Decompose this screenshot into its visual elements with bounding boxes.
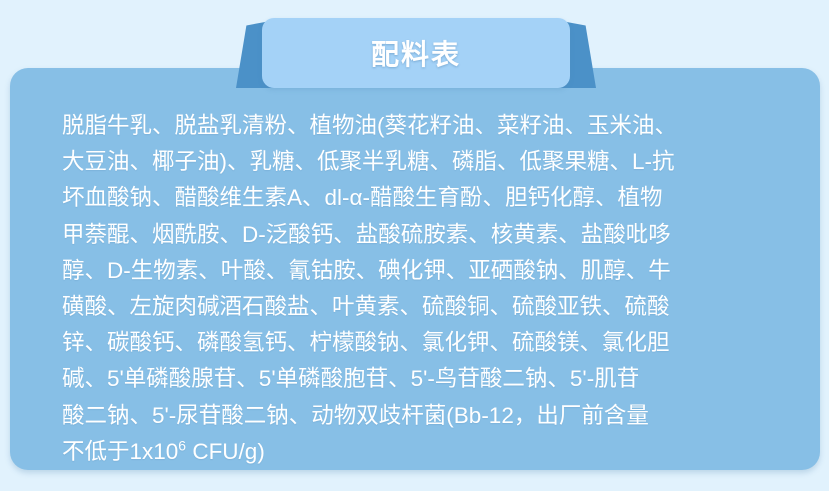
page-root: 配料表 脱脂牛乳、脱盐乳清粉、植物油(葵花籽油、菜籽油、玉米油、大豆油、椰子油)…: [0, 0, 829, 491]
ingredients-line: 碱、5'单磷酸腺苷、5'单磷酸胞苷、5'-鸟苷酸二钠、5'-肌苷: [62, 361, 770, 397]
ingredients-line: 坏血酸钠、醋酸维生素A、dl-α-醋酸生育酚、胆钙化醇、植物: [62, 180, 770, 216]
ingredients-line: 甲萘醌、烟酰胺、D-泛酸钙、盐酸硫胺素、核黄素、盐酸吡哆: [62, 217, 770, 253]
ingredients-text: 脱脂牛乳、脱盐乳清粉、植物油(葵花籽油、菜籽油、玉米油、大豆油、椰子油)、乳糖、…: [62, 108, 770, 470]
ingredients-line: 磺酸、左旋肉碱酒石酸盐、叶黄素、硫酸铜、硫酸亚铁、硫酸: [62, 289, 770, 325]
ingredients-line: 大豆油、椰子油)、乳糖、低聚半乳糖、磷脂、低聚果糖、L-抗: [62, 144, 770, 180]
ingredients-line: 不低于1x106 CFU/g): [62, 434, 770, 470]
ingredients-line: 锌、碳酸钙、磷酸氢钙、柠檬酸钠、氯化钾、硫酸镁、氯化胆: [62, 325, 770, 361]
ingredients-line: 酸二钠、5'-尿苷酸二钠、动物双歧杆菌(Bb-12，出厂前含量: [62, 398, 770, 434]
ingredients-line: 脱脂牛乳、脱盐乳清粉、植物油(葵花籽油、菜籽油、玉米油、: [62, 108, 770, 144]
ingredients-line: 醇、D-生物素、叶酸、氰钴胺、碘化钾、亚硒酸钠、肌醇、牛: [62, 253, 770, 289]
